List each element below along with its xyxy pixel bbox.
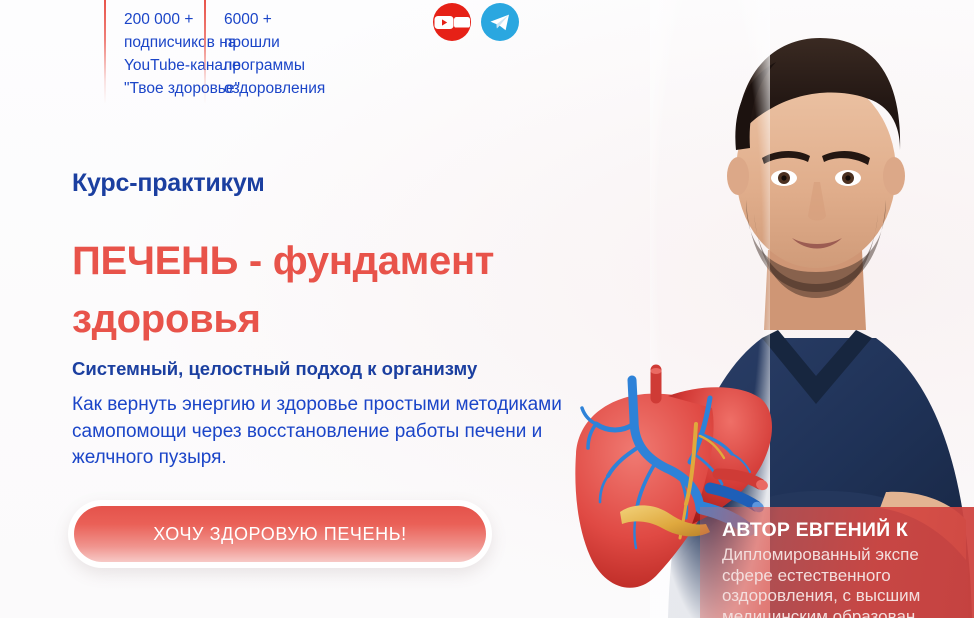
page-title: ПЕЧЕНЬ - фундамент здоровья — [72, 232, 632, 348]
author-description-line: Дипломированный экспе — [722, 545, 974, 566]
hero-section: 200 000 + подписчиков на YouTube-канале … — [0, 0, 974, 618]
stat-program-participants: 6000 + прошли программы оздоровления — [204, 0, 316, 100]
stat-line: программы — [224, 54, 294, 77]
cta-button-frame: ХОЧУ ЗДОРОВУЮ ПЕЧЕНЬ! — [68, 500, 492, 568]
course-kicker: Курс-практикум — [72, 169, 265, 198]
author-description-line: сфере естественного — [722, 566, 974, 587]
youtube-icon[interactable] — [433, 3, 471, 41]
stats-strip: 200 000 + подписчиков на YouTube-канале … — [104, 0, 316, 100]
stat-line: 6000 + — [224, 8, 294, 31]
stat-line: YouTube-канале — [124, 54, 182, 77]
stat-youtube-subscribers: 200 000 + подписчиков на YouTube-канале … — [104, 0, 204, 100]
cta-button[interactable]: ХОЧУ ЗДОРОВУЮ ПЕЧЕНЬ! — [74, 506, 486, 562]
author-overlay-card: АВТОР ЕВГЕНИЙ К Дипломированный экспе сф… — [700, 507, 974, 618]
author-description: Дипломированный экспе сфере естественног… — [722, 545, 974, 618]
stat-line: 200 000 + — [124, 8, 182, 31]
stat-line: прошли — [224, 31, 294, 54]
hero-subtitle: Системный, целостный подход к организму — [72, 358, 477, 380]
author-description-line: оздоровления, с высшим — [722, 586, 974, 607]
stat-line: подписчиков на — [124, 31, 182, 54]
stat-line: "Твое здоровье" — [124, 77, 182, 100]
author-description-line: медицинским образован — [722, 607, 974, 618]
hero-description: Как вернуть энергию и здоровье простыми … — [72, 392, 592, 472]
author-name: АВТОР ЕВГЕНИЙ К — [722, 519, 974, 542]
stat-line: оздоровления — [224, 77, 294, 100]
telegram-icon[interactable] — [481, 3, 519, 41]
social-links — [433, 3, 519, 41]
